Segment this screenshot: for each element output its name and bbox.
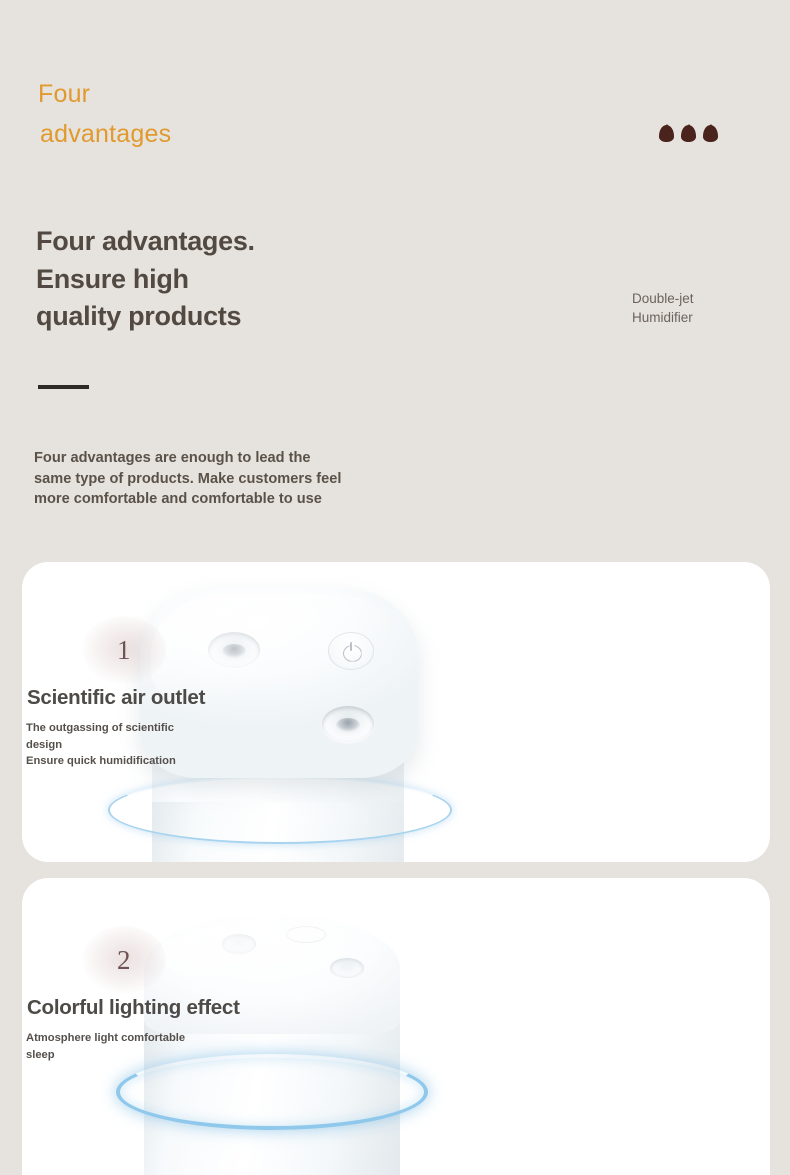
kicker-line-2: advantages bbox=[38, 114, 268, 154]
feature-desc-line-2: design bbox=[26, 739, 226, 753]
product-photo-1 bbox=[22, 562, 522, 862]
feature-description-1: The outgassing of scientific design Ensu… bbox=[26, 722, 226, 769]
product-name-label: Double-jet Humidifier bbox=[632, 289, 694, 327]
feature-number-value: 1 bbox=[117, 635, 131, 666]
feature-card-1 bbox=[22, 562, 770, 862]
feature-desc-line-3: Ensure quick humidification bbox=[26, 755, 226, 769]
jet-nozzle-icon bbox=[322, 706, 374, 742]
light-ring-band bbox=[108, 776, 452, 844]
feature-number-2: 2 bbox=[76, 924, 172, 996]
feature-description-2: Atmosphere light comfortable sleep bbox=[26, 1032, 226, 1062]
product-name-line-1: Double-jet bbox=[632, 289, 694, 308]
hero-section: Four advantages Four advantages. Ensure … bbox=[0, 0, 790, 552]
intro-line-2: same type of products. Make customers fe… bbox=[34, 469, 464, 490]
water-droplet-icon bbox=[681, 125, 696, 142]
section-divider bbox=[38, 385, 89, 389]
feature-title-2: Colorful lighting effect bbox=[27, 996, 240, 1020]
feature-title-1: Scientific air outlet bbox=[27, 686, 205, 710]
intro-line-3: more comfortable and comfortable to use bbox=[34, 489, 464, 510]
power-glyph-icon bbox=[343, 643, 360, 660]
jet-nozzle-icon bbox=[330, 958, 364, 978]
water-droplet-icon bbox=[703, 125, 718, 142]
product-photo-2 bbox=[22, 878, 522, 1175]
feature-number-value: 2 bbox=[117, 945, 131, 976]
feature-card-2 bbox=[22, 878, 770, 1175]
jet-nozzle-icon bbox=[222, 934, 256, 954]
feature-number-1: 1 bbox=[76, 614, 172, 686]
power-button-icon[interactable] bbox=[328, 632, 374, 670]
light-ring-band bbox=[116, 1054, 428, 1130]
product-name-line-2: Humidifier bbox=[632, 308, 694, 327]
page-title: Four advantages. Ensure high quality pro… bbox=[36, 223, 456, 336]
intro-paragraph: Four advantages are enough to lead the s… bbox=[34, 448, 464, 510]
headline-line-2: Ensure high bbox=[36, 261, 456, 299]
section-kicker: Four advantages bbox=[38, 74, 268, 154]
water-droplet-icon bbox=[659, 125, 674, 142]
kicker-line-1: Four bbox=[38, 74, 268, 114]
headline-line-1: Four advantages. bbox=[36, 223, 456, 261]
headline-line-3: quality products bbox=[36, 298, 456, 336]
droplet-icon-group bbox=[659, 125, 718, 142]
humidifier-illustration-1 bbox=[134, 580, 424, 862]
intro-line-1: Four advantages are enough to lead the bbox=[34, 448, 464, 469]
feature-desc-line-1: Atmosphere light comfortable bbox=[26, 1032, 226, 1046]
feature-desc-line-2: sleep bbox=[26, 1049, 226, 1063]
feature-desc-line-1: The outgassing of scientific bbox=[26, 722, 226, 736]
jet-nozzle-icon bbox=[208, 632, 260, 668]
power-button-icon[interactable] bbox=[286, 926, 326, 943]
